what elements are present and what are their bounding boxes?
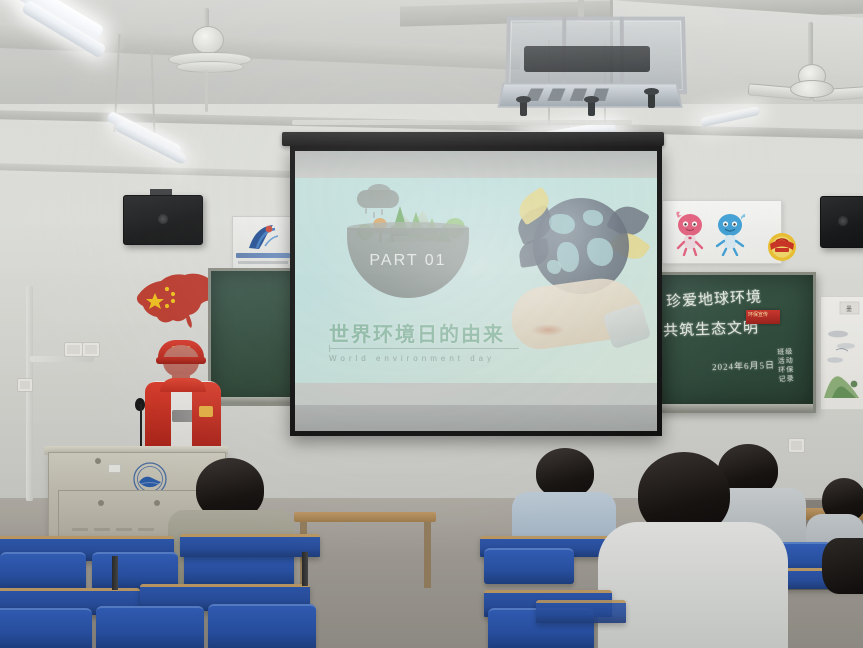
blackboard-headline-2: 共筑生态文明 (663, 316, 760, 340)
lecture-seat (0, 608, 92, 648)
classroom-photo: 墨 珍爱地球环境 共筑生态文明 环保宣传 2024年6月5日 班级 活动 环保 … (0, 0, 863, 648)
fan-downrod (205, 70, 208, 112)
projection-smudge (531, 324, 565, 336)
cabinet-latch[interactable] (98, 500, 104, 506)
presenter-vest (145, 382, 171, 453)
wall-speaker (123, 195, 203, 245)
cloud-shape (367, 184, 391, 200)
screen-roller-case (282, 132, 664, 146)
student-head (536, 448, 594, 498)
desk-leg (302, 552, 308, 586)
banner-text: 环保宣传 (748, 311, 768, 318)
student-head (822, 538, 863, 594)
projector (524, 46, 650, 72)
poster-caption-bar (236, 253, 290, 258)
round-emblem-icon (766, 232, 798, 262)
logo-mark-icon (245, 222, 279, 252)
ink-painting-art: 墨 (822, 298, 861, 406)
pink-mascot-icon (672, 208, 708, 256)
screen-blank-band (295, 405, 657, 431)
speaker-cone (158, 214, 168, 224)
ceiling-fan-housing (790, 80, 834, 98)
chalk-tray (655, 404, 813, 411)
presentation-slide: PART 01 世界环境日的由来 (295, 178, 657, 383)
presenter-cap-brim (156, 357, 206, 364)
wall-outlet[interactable] (82, 342, 100, 357)
desk-leg (112, 556, 118, 590)
lecture-seat (0, 552, 86, 590)
cabinet-latch[interactable] (154, 500, 160, 506)
presenter-vest (192, 382, 221, 453)
slide-part-label: PART 01 (347, 252, 469, 270)
cage-bolt (588, 100, 595, 116)
podium-label-tag (108, 464, 121, 473)
ceiling-fan-blade (176, 61, 244, 73)
slide-title: 世界环境日的由来 (329, 318, 505, 347)
wall-outlet[interactable] (788, 438, 805, 453)
wall-speaker (820, 196, 863, 248)
svg-text:墨: 墨 (846, 306, 852, 313)
presenter-vest-collar (160, 378, 206, 392)
wall-conduit (26, 286, 33, 501)
wall-outlet[interactable] (64, 342, 83, 357)
cage-bolt (520, 100, 527, 116)
blackboard-notes: 班级 活动 环保 记录 (777, 348, 795, 385)
fan-rod (808, 22, 813, 70)
slide-subtitle: World environment day (329, 354, 495, 363)
vest-logo (199, 406, 213, 417)
blackboard-date: 2024年6月5日 (712, 358, 775, 373)
cage-bolt (648, 92, 655, 108)
side-table-top (294, 512, 436, 522)
lecture-seat (208, 604, 316, 648)
lecture-desk (180, 534, 320, 557)
slide-divider (329, 348, 519, 349)
wall-switch[interactable] (17, 378, 33, 392)
lecture-seat (484, 548, 574, 584)
lecture-desk (536, 600, 626, 623)
lecture-seat (96, 606, 204, 648)
wall-conduit (292, 120, 632, 125)
speaker-cone (838, 216, 848, 226)
student-body (598, 522, 788, 648)
blackboard-red-banner: 环保宣传 (746, 310, 780, 324)
screen-surface: PART 01 世界环境日的由来 (295, 151, 657, 431)
table-leg (424, 522, 431, 588)
projection-screen: PART 01 世界环境日的由来 (290, 146, 662, 436)
globe-icon (533, 198, 629, 294)
ceiling-fan-motor (192, 26, 224, 54)
shirt-print (172, 410, 194, 422)
blue-mascot-icon (712, 208, 748, 256)
podium-knob (95, 458, 101, 464)
poster-caption-bar (238, 261, 288, 264)
